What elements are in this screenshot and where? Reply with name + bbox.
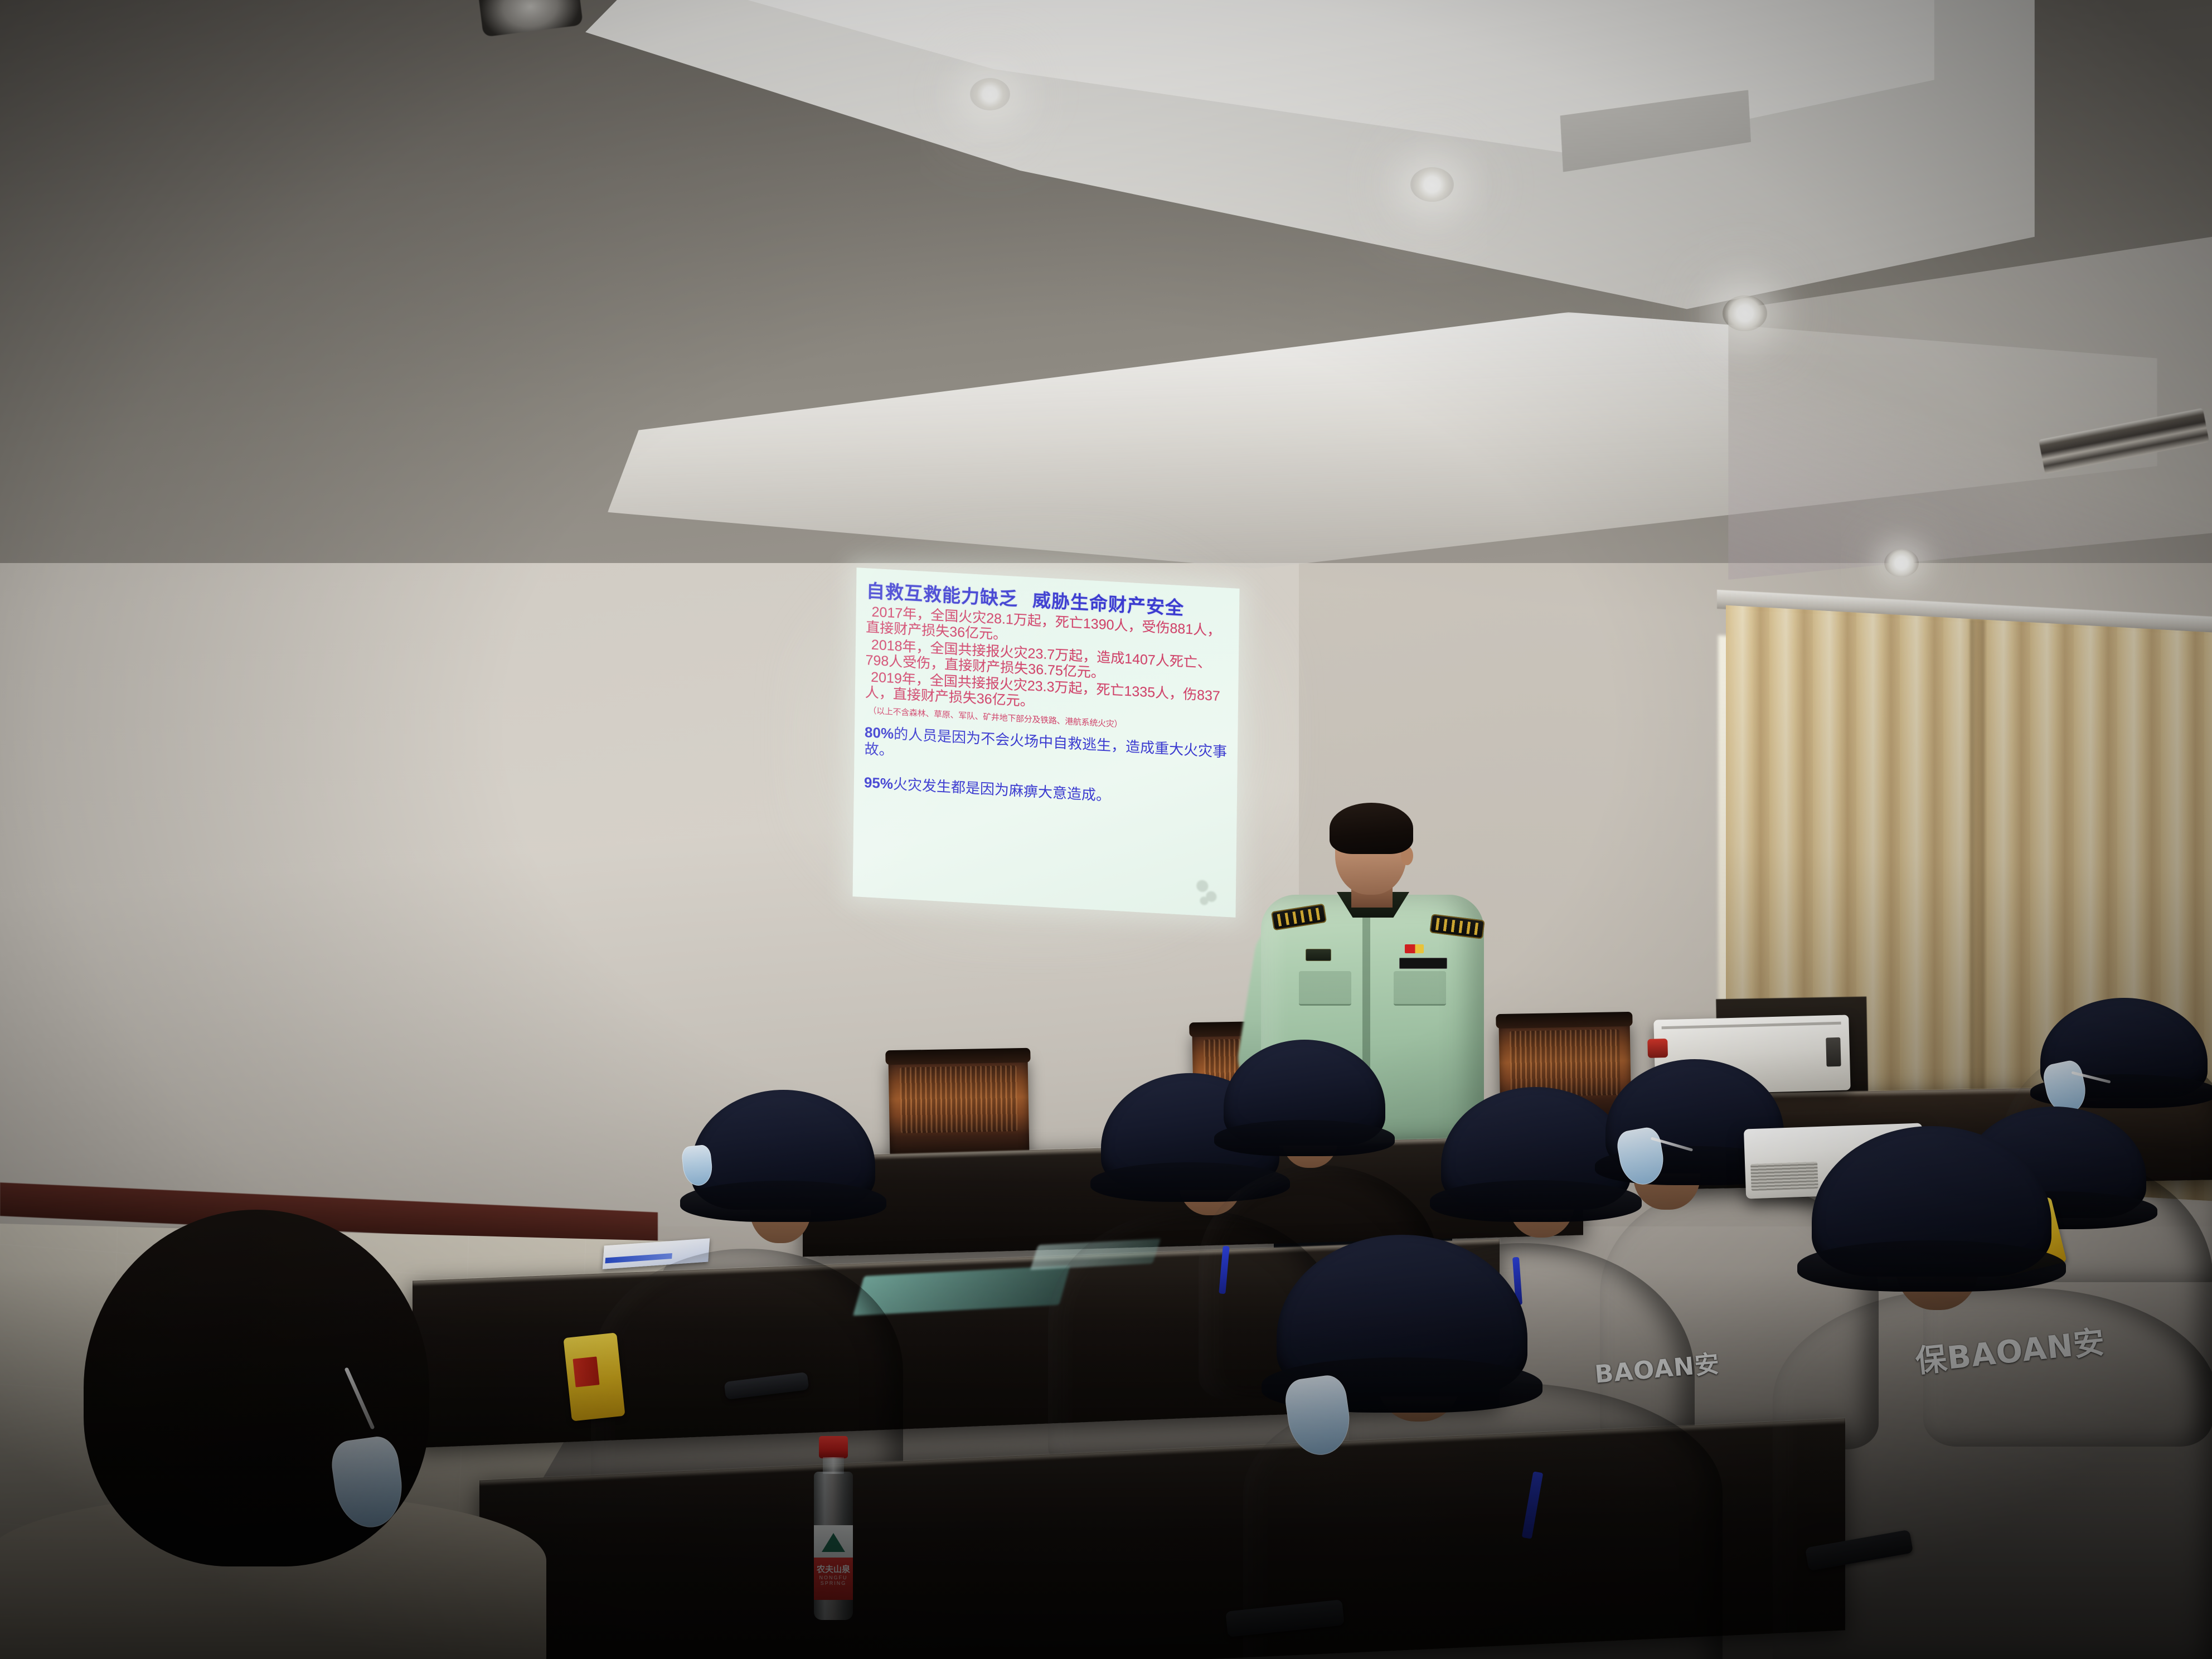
wooden-chair xyxy=(888,1052,1029,1161)
presenter-hair xyxy=(1330,803,1413,854)
slide-emphasis-95: 95%火灾发生都是因为麻痹大意造成。 xyxy=(864,774,1228,811)
presenter-chest-pocket xyxy=(1394,971,1446,1006)
ceiling-downlight-icon xyxy=(1723,295,1767,331)
ceiling-downlight-icon xyxy=(970,78,1010,110)
case-latch xyxy=(1826,1037,1841,1067)
projected-slide: 自救互救能力缺乏 威胁生命财产安全 2017年，全国火灾28.1万起，死亡139… xyxy=(852,567,1239,918)
presenter-chest-pocket xyxy=(1299,971,1351,1006)
slide-emphasis-80-pct: 80% xyxy=(865,724,894,742)
audience-armband xyxy=(563,1332,625,1421)
bottle-brand-cn: 农夫山泉 xyxy=(814,1563,853,1575)
presenter-chest-insignia xyxy=(1306,949,1331,961)
bottle-body: 农夫山泉 NONGFU SPRING xyxy=(814,1472,853,1620)
training-room-photo: 自救互救能力缺乏 威胁生命财产安全 2017年，全国火灾28.1万起，死亡139… xyxy=(0,0,2212,1659)
case-knob xyxy=(1647,1039,1668,1058)
chair-top-rail xyxy=(1496,1012,1633,1029)
presenter-flag-pin-icon xyxy=(1405,944,1424,953)
bottle-cap xyxy=(819,1436,848,1458)
water-bottle: 农夫山泉 NONGFU SPRING xyxy=(809,1436,857,1620)
slide-emphasis-95-pct: 95% xyxy=(864,774,893,792)
bottle-label-lower: 农夫山泉 NONGFU SPRING xyxy=(814,1558,853,1600)
bottle-label-upper xyxy=(814,1525,853,1558)
presenter-name-badge xyxy=(1399,958,1447,969)
bottle-brand-en: NONGFU SPRING xyxy=(814,1575,853,1586)
slide-watermark-icon xyxy=(1191,876,1224,911)
chair-top-rail xyxy=(885,1048,1030,1065)
ceiling-downlight-icon xyxy=(1410,167,1454,202)
slide-emphasis-95-text: 火灾发生都是因为麻痹大意造成。 xyxy=(893,775,1110,804)
ceiling-downlight-icon xyxy=(1884,549,1919,577)
